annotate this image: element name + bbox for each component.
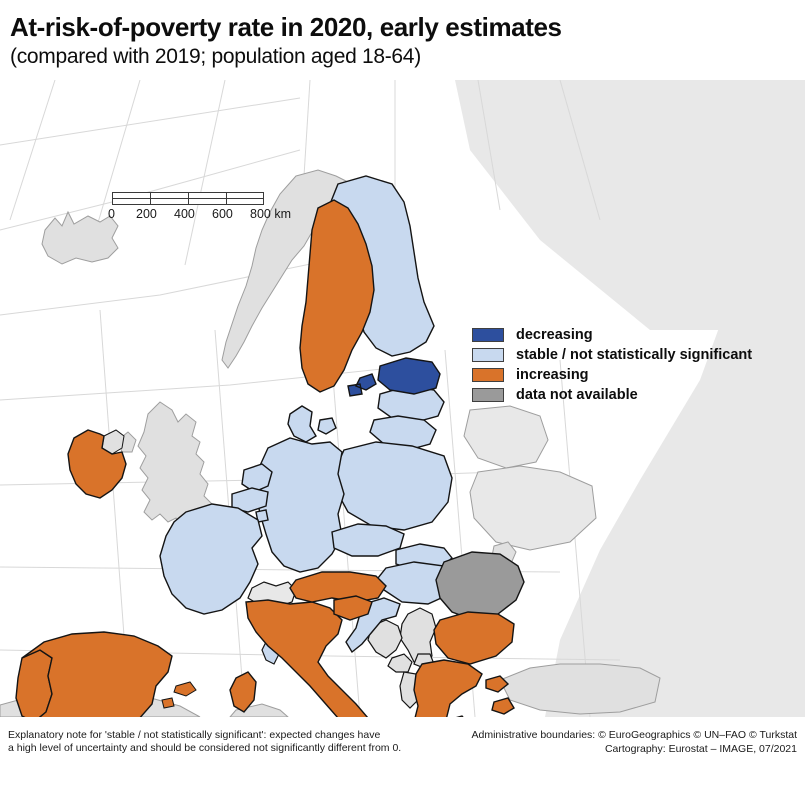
country-czechia[interactable] [332,524,404,556]
legend-item-decreasing[interactable]: decreasing [472,326,772,344]
scale-tick-400 [188,192,189,205]
legend-swatch-increasing [472,368,504,382]
page-title: At-risk-of-poverty rate in 2020, early e… [10,12,562,43]
legend-item-no-data[interactable]: data not available [472,386,772,404]
map-page: At-risk-of-poverty rate in 2020, early e… [0,0,805,805]
explanatory-note: Explanatory note for 'stable / not stati… [8,729,401,754]
scale-label-600: 600 [212,207,233,221]
legend-swatch-stable [472,348,504,362]
scale-bar: 0 200 400 600 800 km [112,192,287,228]
legend-swatch-decreasing [472,328,504,342]
legend-label-no-data: data not available [516,387,638,403]
legend-label-decreasing: decreasing [516,327,593,343]
page-subtitle: (compared with 2019; population aged 18-… [10,45,421,69]
map-canvas[interactable]: 0 200 400 600 800 km decreasing stable /… [0,80,805,717]
legend: decreasing stable / not statistically si… [472,326,772,406]
header: At-risk-of-poverty rate in 2020, early e… [0,0,805,80]
scale-label-200: 200 [136,207,157,221]
scale-label-800: 800 km [250,207,291,221]
country-portugal[interactable] [16,650,52,717]
scale-label-0: 0 [108,207,115,221]
legend-item-stable[interactable]: stable / not statistically significant [472,346,772,364]
legend-item-increasing[interactable]: increasing [472,366,772,384]
scale-tick-200 [150,192,151,205]
scale-tick-600 [226,192,227,205]
scale-bar-labels: 0 200 400 600 800 km [104,207,304,225]
legend-label-increasing: increasing [516,367,589,383]
footer: Explanatory note for 'stable / not stati… [0,717,805,805]
legend-label-stable: stable / not statistically significant [516,347,752,363]
scale-label-400: 400 [174,207,195,221]
legend-swatch-no-data [472,388,504,402]
source-credits: Administrative boundaries: © EuroGeograp… [471,729,797,756]
